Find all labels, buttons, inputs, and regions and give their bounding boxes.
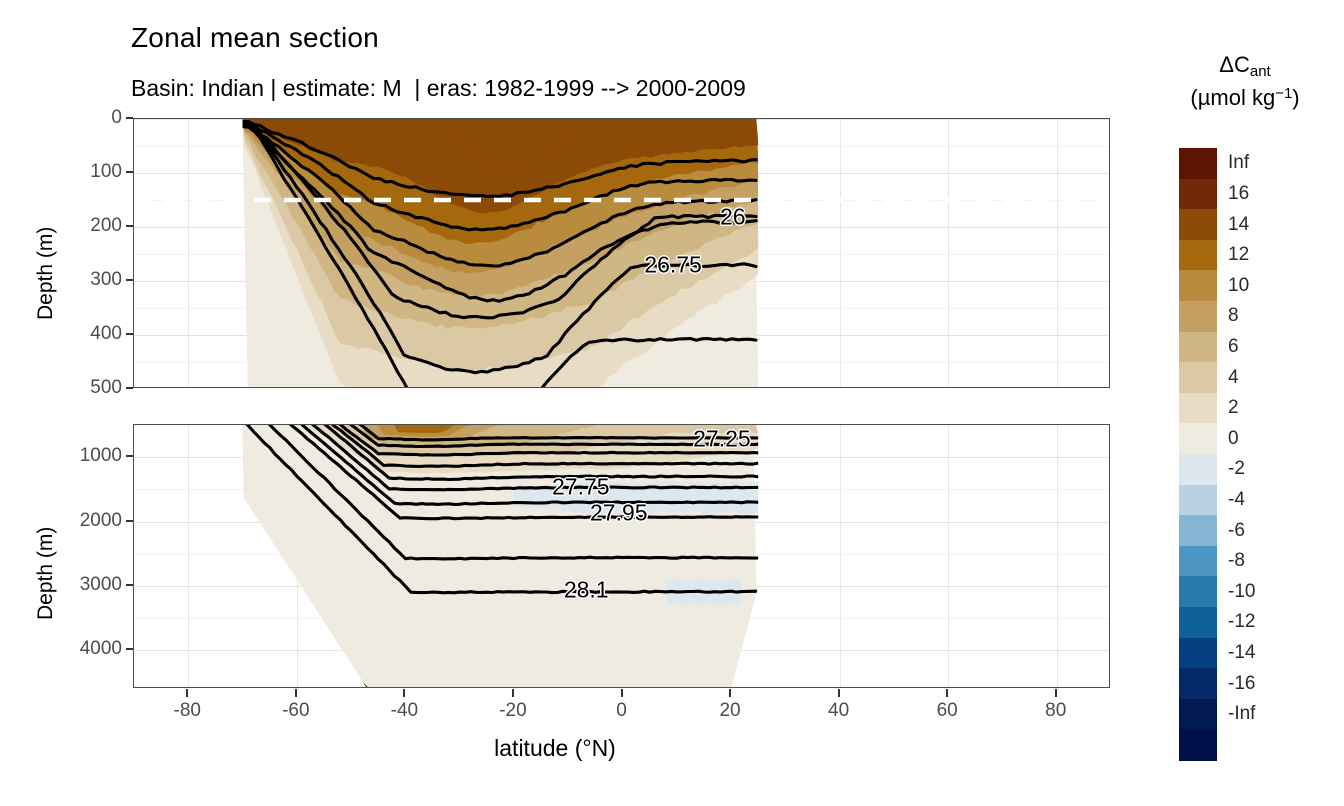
colorbar-tick-label: -8 [1228, 550, 1245, 572]
colorbar-swatch[interactable] [1179, 485, 1217, 516]
page-subtitle: Basin: Indian | estimate: M | eras: 1982… [131, 75, 746, 102]
colorbar-tick-label: 6 [1228, 336, 1239, 358]
colorbar-swatch[interactable] [1179, 638, 1217, 669]
legend-units-post: ) [1292, 85, 1299, 110]
y-axis-tick-mark [126, 387, 133, 389]
contour-label: 27.75 [552, 473, 610, 500]
legend-title-main: ΔC [1219, 52, 1250, 77]
x-axis-tick-mark [186, 689, 188, 697]
x-axis-label: latitude (°N) [0, 735, 1110, 762]
colorbar-tick-label: -6 [1228, 520, 1245, 542]
y-axis-tick-label: 1000 [60, 445, 122, 467]
x-axis-tick-label: -80 [174, 700, 201, 722]
colorbar-swatch[interactable] [1179, 332, 1217, 363]
colorbar-swatch[interactable] [1179, 362, 1217, 393]
colorbar-tick-label: -4 [1228, 489, 1245, 511]
colorbar-tick-label: 10 [1228, 275, 1249, 297]
contour-label: 27.95 [590, 499, 648, 526]
x-axis-tick-mark [295, 689, 297, 697]
colorbar-tick-label: 4 [1228, 367, 1239, 389]
legend-units-pre: (µmol kg [1190, 85, 1275, 110]
colorbar-swatch[interactable] [1179, 576, 1217, 607]
x-axis-tick-mark [1055, 689, 1057, 697]
contour-label: 28.1 [564, 577, 609, 604]
colorbar-tick-label: -12 [1228, 611, 1255, 633]
x-axis-tick-mark [512, 689, 514, 697]
y-axis-tick-mark [126, 648, 133, 650]
x-axis-tick-label: -40 [391, 700, 418, 722]
y-axis-tick-mark [126, 225, 133, 227]
y-axis-tick-mark [126, 279, 133, 281]
y-axis-tick-mark [126, 171, 133, 173]
colorbar-swatch[interactable] [1179, 546, 1217, 577]
contour-label: 26 [720, 203, 746, 230]
x-axis-tick-mark [621, 689, 623, 697]
colorbar-tick-label: 12 [1228, 244, 1249, 266]
y-axis-tick-label: 500 [60, 377, 122, 399]
colorbar-swatch[interactable] [1179, 179, 1217, 210]
lower-y-axis-label: Depth (m) [34, 527, 58, 620]
colorbar-tick-label: 14 [1228, 214, 1249, 236]
contour-label: 27.25 [693, 426, 751, 453]
colorbar-tick-label: 2 [1228, 397, 1239, 419]
colorbar-swatch[interactable] [1179, 240, 1217, 271]
upper-depth-panel [133, 118, 1110, 388]
colorbar-tick-label: -2 [1228, 458, 1245, 480]
x-axis-tick-label: 20 [719, 700, 740, 722]
colorbar-swatch[interactable] [1179, 607, 1217, 638]
x-axis-tick-label: 80 [1045, 700, 1066, 722]
legend-title: ΔCant [1150, 52, 1340, 80]
contour-field [134, 425, 1110, 688]
x-axis-tick-mark [729, 689, 731, 697]
colorbar-swatch[interactable] [1179, 393, 1217, 424]
y-axis-tick-label: 4000 [60, 638, 122, 660]
colorbar-tick-label: -16 [1228, 673, 1255, 695]
colorbar-swatch[interactable] [1179, 454, 1217, 485]
y-axis-tick-mark [126, 520, 133, 522]
y-axis-tick-mark [126, 584, 133, 586]
page-title: Zonal mean section [131, 22, 379, 54]
colorbar-tick-label: 0 [1228, 428, 1239, 450]
colorbar-swatch[interactable] [1179, 699, 1217, 730]
legend-units: (µmol kg−1) [1148, 85, 1342, 111]
x-axis-tick-label: -20 [499, 700, 526, 722]
legend-units-exponent: −1 [1275, 85, 1292, 102]
colorbar-swatch[interactable] [1179, 301, 1217, 332]
x-axis-tick-label: -60 [282, 700, 309, 722]
colorbar[interactable] [1179, 148, 1217, 760]
colorbar-tick-label: 16 [1228, 183, 1249, 205]
lower-depth-panel [133, 424, 1110, 688]
x-axis-tick-mark [946, 689, 948, 697]
y-axis-tick-label: 100 [60, 161, 122, 183]
colorbar-tick-label: 8 [1228, 305, 1239, 327]
legend-title-subscript: ant [1250, 63, 1271, 80]
colorbar-tick-label: Inf [1228, 152, 1249, 174]
x-axis-tick-mark [838, 689, 840, 697]
colorbar-swatch[interactable] [1179, 148, 1217, 179]
colorbar-swatch[interactable] [1179, 423, 1217, 454]
colorbar-tick-label: -Inf [1228, 703, 1255, 725]
y-axis-tick-label: 200 [60, 215, 122, 237]
colorbar-swatch[interactable] [1179, 729, 1217, 760]
y-axis-tick-label: 0 [60, 107, 122, 129]
colorbar-swatch[interactable] [1179, 515, 1217, 546]
x-axis-tick-label: 60 [937, 700, 958, 722]
contour-field [134, 119, 1110, 388]
y-axis-tick-label: 300 [60, 269, 122, 291]
colorbar-tick-label: -14 [1228, 642, 1255, 664]
colorbar-tick-label: -10 [1228, 581, 1255, 603]
x-axis-tick-label: 40 [828, 700, 849, 722]
y-axis-tick-mark [126, 455, 133, 457]
colorbar-swatch[interactable] [1179, 209, 1217, 240]
upper-y-axis-label: Depth (m) [34, 227, 58, 320]
y-axis-tick-label: 400 [60, 323, 122, 345]
y-axis-tick-label: 2000 [60, 510, 122, 532]
colorbar-swatch[interactable] [1179, 270, 1217, 301]
x-axis-tick-label: 0 [616, 700, 627, 722]
x-axis-tick-mark [403, 689, 405, 697]
colorbar-swatch[interactable] [1179, 668, 1217, 699]
y-axis-tick-mark [126, 117, 133, 119]
contour-label: 26.75 [644, 251, 702, 278]
y-axis-tick-label: 3000 [60, 574, 122, 596]
y-axis-tick-mark [126, 333, 133, 335]
